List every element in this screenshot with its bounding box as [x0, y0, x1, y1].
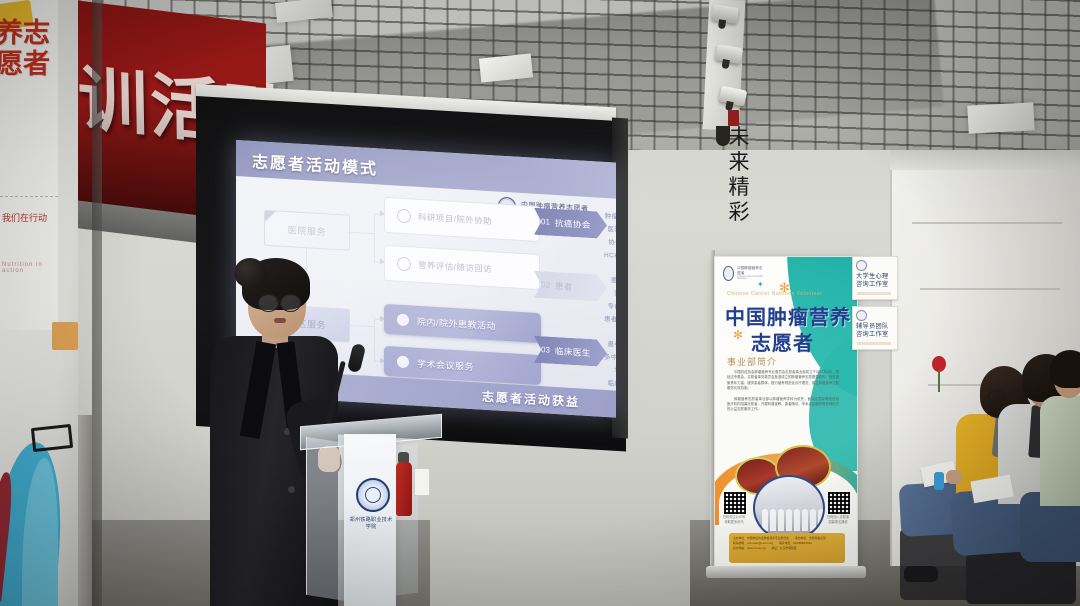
wall-sign-1-text: 大学生心理咨询工作室 — [856, 273, 894, 289]
connector-h1 — [348, 232, 374, 235]
flow-branch-2-label: 营养评估/随访回访 — [418, 259, 492, 275]
benefit-2-line-4: 患者满意度服务管理模式 — [604, 313, 616, 328]
blue-wall-graphic — [0, 420, 78, 606]
banner-star-icon-orange-2: ✻ — [733, 329, 745, 341]
slide-tab-01-label: 抗癌协会 — [555, 216, 591, 230]
banner-paragraph-2: 肿瘤营养志愿者事业部以肿瘤营养学科为依托，面向全国高等院校及医疗机构招募志愿者，… — [727, 397, 839, 413]
audience-member-1-glasses-icon — [988, 390, 1005, 403]
wall-sign-1-bar — [857, 292, 891, 295]
highlight-bullet-icon-2 — [397, 356, 409, 369]
speaker-hair-bun — [234, 258, 266, 288]
banner-footer-row-3: 官方网站：www.cscnv.org 地址：北京市朝阳区 — [733, 546, 841, 550]
podium: 郑州铁路职业技术学院 — [300, 420, 440, 606]
connector-v3 — [374, 318, 375, 362]
connector-v1 — [374, 213, 375, 263]
qr-code-right[interactable] — [827, 491, 851, 515]
audience-member-1-shoe — [904, 566, 938, 582]
banner-footer-box: 主办单位：中国抗癌协会肿瘤营养专业委员会 承办单位：志愿者事业部 联系邮箱：vo… — [729, 533, 845, 563]
banner-logo-cn: 中国肿瘤营养志愿者 — [737, 266, 763, 276]
benefit-3-line-2: 多中心临床研究投入 — [604, 351, 616, 365]
banner-footer-cell-3b: 地址：北京市朝阳区 — [771, 546, 796, 550]
flow-highlight-1: 院内/院外患教活动 — [384, 304, 541, 343]
audience-member-3-hair — [1050, 350, 1080, 388]
banner-section-heading: 事业部简介 — [727, 355, 777, 368]
highlight-bullet-icon-1 — [397, 314, 409, 327]
black-frame-graphic — [31, 424, 73, 452]
banner-photo-3 — [753, 475, 825, 541]
slide-tab-02-label: 患者 — [555, 279, 573, 292]
benefit-3-line-1: 患者院外随访管理 — [607, 338, 616, 351]
left-wall-poster: 养志愿者 我们在行动 Nutrition in action — [0, 0, 58, 330]
banner-star-icon-blue: ✦ — [757, 281, 765, 289]
qr-code-left-caption: 扫码关注公众号 获取更多资讯 — [721, 515, 747, 524]
poster-yellow-tab — [52, 322, 78, 350]
speaker-button-2 — [288, 486, 295, 493]
calligraphy-seal — [728, 110, 739, 126]
speaker-glasses-bridge-icon — [276, 300, 282, 302]
banner-base-stand — [706, 566, 866, 578]
poster-english-line: Nutrition in action — [2, 262, 58, 274]
slide-benefits-02: 患者肿瘤营养素配合 院外随访患者管理 专病营养科普宣教知识 患者满意度服务管理模… — [604, 274, 616, 328]
wall-edge-shadow — [92, 0, 102, 606]
banner-footer-cell-3a: 官方网站：www.cscnv.org — [733, 546, 765, 550]
banner-footer-row-2: 联系邮箱：volunteer@cscnv.org 联系电话：010-8888 6… — [733, 541, 841, 545]
podium-left-panel — [306, 437, 347, 601]
slide-tab-01-number: 01 — [541, 217, 550, 227]
calligraphy-char-1: 未 — [729, 126, 750, 149]
benefit-3-line-4: 临床营养能力提升 — [607, 377, 616, 390]
banner-star-icon-orange-1: ✻ — [779, 281, 792, 294]
flow-highlight-1-label: 院内/院外患教活动 — [417, 314, 496, 332]
banner-body-text: 中国抗癌协会肿瘤营养专业委员会志愿者事业部成立于2021年4月，是经过专委会、志… — [727, 370, 839, 418]
calligraphy-char-3: 精 — [729, 176, 750, 199]
presentation-scene: 训活动 养志愿者 我们在行动 Nutrition in action 志愿者活动… — [0, 0, 1080, 606]
calligraphy-char-4: 彩 — [729, 201, 750, 224]
speaker-glasses-left-icon — [258, 294, 279, 312]
benefit-2-line-3: 专病营养科普宣教知识 — [607, 300, 616, 314]
banner-title-line-2: 志愿者 — [751, 327, 814, 356]
benefit-1-line-3: 协会科研课题联动 — [608, 236, 616, 249]
speaker-glasses-right-icon — [280, 294, 301, 312]
fire-equipment-sign — [414, 468, 430, 496]
flow-node-hospital: 医院服务 — [264, 210, 350, 251]
benefit-3-line-3: 学术能力提升 — [614, 364, 616, 376]
wall-sign-counselor-team: 辅导员团队咨询工作室 — [852, 306, 898, 350]
benefit-1-line-1: 肿瘤营养社会化推广 — [605, 210, 616, 224]
flow-node-hospital-label: 医院服务 — [288, 223, 326, 238]
wall-sign-badge-icon-1 — [856, 260, 867, 271]
slide-benefits-01: 肿瘤营养社会化推广 医院MDT分院协作 协会科研课题联动 HCH患教全流程管理 — [604, 210, 616, 263]
banner-paragraph-1: 中国抗癌协会肿瘤营养专业委员会志愿者事业部成立于2021年4月，是经过专委会、志… — [727, 370, 839, 392]
door-seam-2 — [920, 288, 1060, 290]
slide-tab-03-number: 03 — [541, 345, 550, 355]
slide-benefits-03: 患者院外随访管理 多中心临床研究投入 学术能力提升 临床营养能力提升 — [604, 338, 616, 391]
qr-code-right-caption: 扫码加入志愿者 招募报名通道 — [825, 515, 851, 524]
banner-photo-figures — [762, 509, 824, 531]
benefit-1-line-4: HCH患教全流程管理 — [604, 249, 616, 263]
audience-member-2-glasses-icon — [1030, 380, 1047, 393]
podium-institution-name: 郑州铁路职业技术学院 — [348, 516, 394, 530]
benefit-2-line-2: 院外随访患者管理 — [614, 287, 616, 300]
door-seam-1 — [912, 222, 1062, 224]
slide-tab-03: 03 临床医生 — [534, 336, 607, 367]
banner-footer-row-1: 主办单位：中国抗癌协会肿瘤营养专业委员会 承办单位：志愿者事业部 — [733, 536, 841, 540]
rollup-banner: 中国肿瘤营养志愿者 Chinese Cancer Nutrition Volun… — [714, 256, 858, 570]
poster-divider — [0, 196, 58, 197]
qr-code-left[interactable] — [723, 491, 747, 515]
banner-logo: 中国肿瘤营养志愿者 Chinese Cancer Nutrition Volun… — [723, 265, 763, 281]
podium-crest-icon — [356, 478, 390, 512]
slide-tab-03-label: 临床医生 — [555, 344, 591, 358]
ceiling-diffuser-4 — [967, 102, 1034, 133]
benefit-1-line-2: 医院MDT分院协作 — [607, 223, 616, 236]
track-light-1[interactable] — [711, 4, 739, 23]
banner-logo-mark-icon — [723, 266, 734, 281]
slide-tab-02-number: 02 — [541, 280, 550, 290]
wall-calligraphy: 未 来 精 彩 — [722, 126, 756, 246]
wall-sign-2-text: 辅导员团队咨询工作室 — [856, 323, 894, 339]
audience-member-3-body — [1040, 396, 1080, 506]
wall-seam — [78, 415, 92, 606]
speaker-mouth — [274, 318, 286, 323]
benefit-2-line-1: 患者肿瘤营养素配合 — [611, 274, 616, 288]
branch-bullet-icon-2 — [397, 257, 411, 272]
banner-title-line-1: 中国肿瘤营养 — [725, 301, 851, 330]
flow-highlight-2-label: 学术会议服务 — [417, 356, 474, 372]
banner-footer-cell-1a: 主办单位：中国抗癌协会肿瘤营养专业委员会 — [733, 536, 789, 540]
poster-title: 养志愿者 — [0, 18, 58, 80]
wall-sign-2-bar — [857, 342, 891, 345]
banner-footer-cell-2a: 联系邮箱：volunteer@cscnv.org — [733, 541, 773, 545]
fire-extinguisher — [396, 462, 412, 516]
wall-sign-badge-icon-2 — [856, 310, 867, 321]
flow-branch-2: 营养评估/随访回访 — [384, 245, 540, 290]
wall-sign-psych-counseling: 大学生心理咨询工作室 — [852, 256, 898, 300]
branch-bullet-icon-1 — [397, 209, 411, 224]
flow-branch-1-label: 科研项目/院外协助 — [418, 211, 492, 227]
calligraphy-char-2: 来 — [729, 151, 750, 174]
audience-member-1-bottle — [934, 472, 944, 490]
node-corner-icon — [265, 211, 276, 223]
audience-group — [900, 352, 1080, 606]
banner-english-tagline: Chinese Cancer Nutrition Volunteer — [727, 291, 822, 297]
slide-tab-01: 01 抗癌协会 — [534, 208, 607, 239]
banner-footer-cell-2b: 联系电话：010-8888 6666 — [779, 541, 812, 545]
wall-panel-right — [890, 150, 1080, 172]
slide-tab-02: 02 患者 — [534, 271, 607, 302]
banner-footer-cell-1b: 承办单位：志愿者事业部 — [795, 536, 826, 540]
audience-member-1-hand — [946, 470, 962, 484]
poster-subtitle: 我们在行动 — [2, 212, 58, 224]
